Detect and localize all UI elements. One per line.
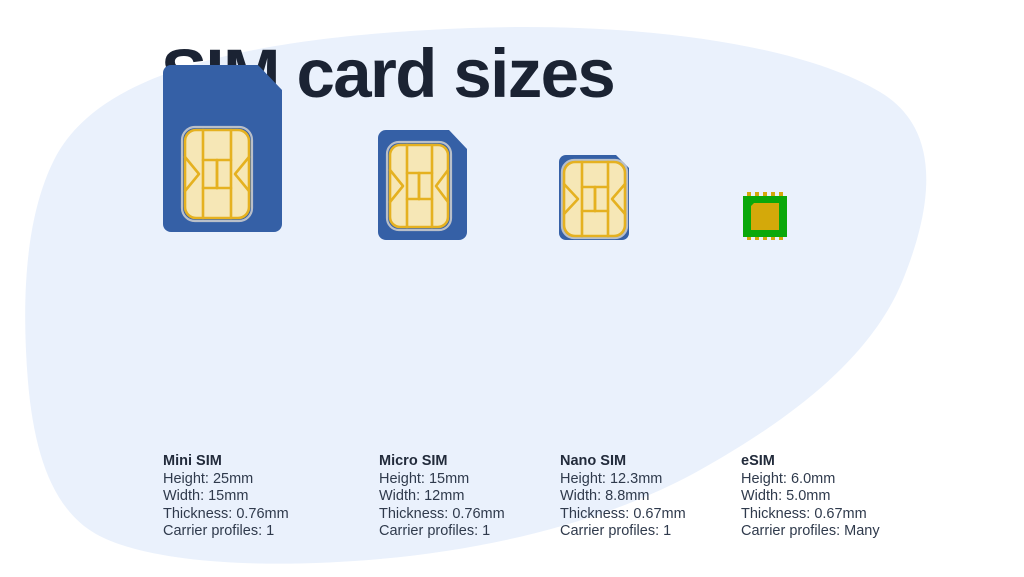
sim-spec-height: Height: 6.0mm bbox=[741, 471, 951, 489]
sim-spec-carrier-profiles: Carrier profiles: 1 bbox=[163, 523, 373, 541]
sim-caption-esim: eSIM Height: 6.0mm Width: 5.0mm Thicknes… bbox=[741, 453, 951, 541]
sim-spec-carrier-profiles: Carrier profiles: 1 bbox=[560, 523, 770, 541]
sim-spec-height: Height: 12.3mm bbox=[560, 471, 770, 489]
sim-spec-height: Height: 25mm bbox=[163, 471, 373, 489]
esim-chip-icon bbox=[743, 192, 787, 240]
sim-spec-height: Height: 15mm bbox=[379, 471, 589, 489]
sim-spec-carrier-profiles: Carrier profiles: Many bbox=[741, 523, 951, 541]
sim-name: Nano SIM bbox=[560, 453, 770, 471]
sim-spec-width: Width: 12mm bbox=[379, 488, 589, 506]
sim-card-graphic-micro-sim bbox=[379, 57, 579, 240]
sim-name: Mini SIM bbox=[163, 453, 373, 471]
sim-caption-micro-sim: Micro SIM Height: 15mm Width: 12mm Thick… bbox=[379, 453, 589, 541]
sim-name: eSIM bbox=[741, 453, 951, 471]
sim-spec-width: Width: 8.8mm bbox=[560, 488, 770, 506]
esim-chip-graphic bbox=[741, 57, 941, 240]
sim-spec-carrier-profiles: Carrier profiles: 1 bbox=[379, 523, 589, 541]
sim-spec-width: Width: 5.0mm bbox=[741, 488, 951, 506]
sim-spec-thickness: Thickness: 0.67mm bbox=[741, 506, 951, 524]
sim-caption-mini-sim: Mini SIM Height: 25mm Width: 15mm Thickn… bbox=[163, 453, 373, 541]
sim-card-graphic-mini-sim bbox=[163, 57, 363, 240]
sim-spec-thickness: Thickness: 0.76mm bbox=[379, 506, 589, 524]
sim-spec-thickness: Thickness: 0.67mm bbox=[560, 506, 770, 524]
sim-card-icon bbox=[378, 130, 467, 240]
sim-spec-thickness: Thickness: 0.76mm bbox=[163, 506, 373, 524]
sim-card-sizes-infographic: SIM card sizes bbox=[0, 0, 1024, 577]
sim-card-graphic-nano-sim bbox=[560, 57, 760, 240]
sim-card-icon bbox=[163, 65, 282, 232]
sim-caption-nano-sim: Nano SIM Height: 12.3mm Width: 8.8mm Thi… bbox=[560, 453, 770, 541]
sim-spec-width: Width: 15mm bbox=[163, 488, 373, 506]
sim-name: Micro SIM bbox=[379, 453, 589, 471]
sim-card-icon bbox=[559, 155, 629, 240]
